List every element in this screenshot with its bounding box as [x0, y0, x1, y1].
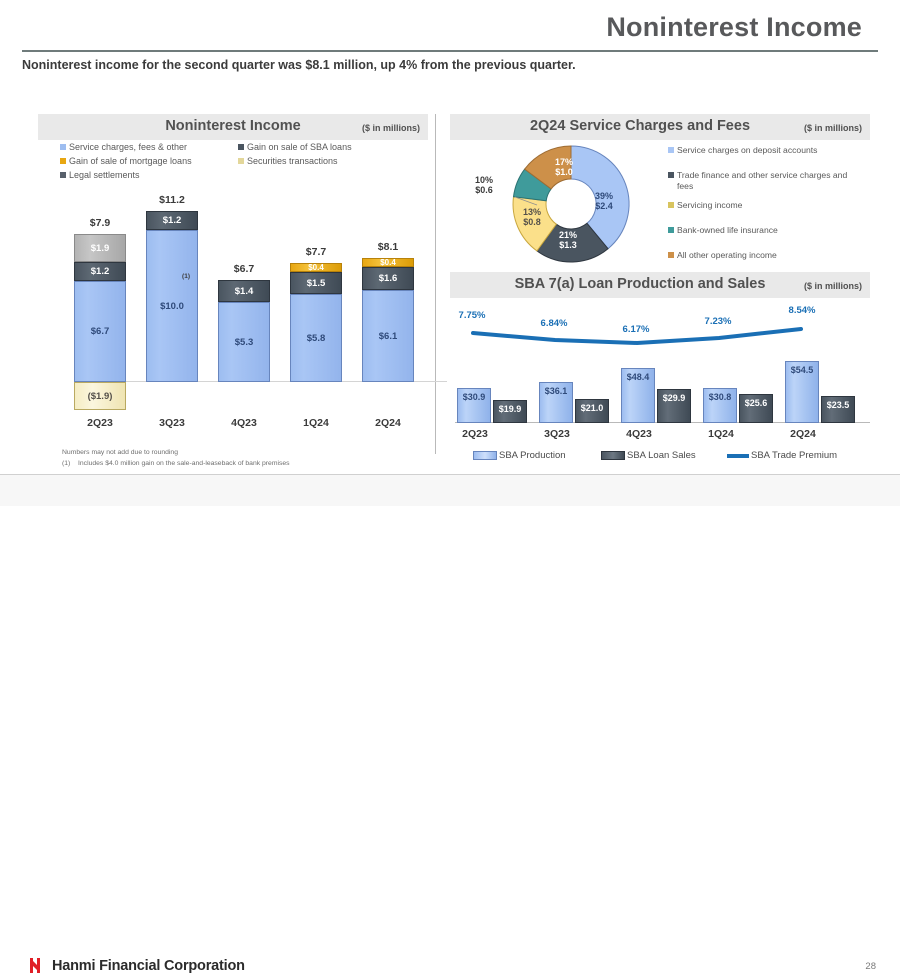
sba-sales-bar-2q24[interactable]: $23.5	[821, 396, 855, 423]
legend-label: Servicing income	[677, 200, 742, 211]
bar-group-2q23-negative[interactable]: ($1.9)	[74, 382, 126, 415]
legend-swatch-icon	[60, 144, 66, 150]
legend-item-securities: Securities transactions	[238, 156, 338, 166]
footnote-number: (1)	[62, 459, 78, 470]
bar-total-label: $11.2	[146, 194, 198, 206]
pie-legend-item-deposit-accounts: Service charges on deposit accounts	[668, 145, 817, 156]
bar-segment-securities-transactions[interactable]: ($1.9)	[74, 382, 126, 410]
bar-group-4q23[interactable]: $6.7 $1.4 $5.3	[218, 280, 270, 382]
sba-panel-units: ($ in millions)	[804, 281, 862, 291]
sba-legend-item-production: SBA Production	[473, 450, 566, 461]
page-number: 28	[865, 961, 876, 972]
legend-label: Gain on sale of SBA loans	[247, 142, 352, 152]
footer: Hanmi Financial Corporation 28	[0, 475, 900, 506]
bar-segment-sba-gain[interactable]: $1.4	[218, 280, 270, 302]
service-charges-panel-title: 2Q24 Service Charges and Fees	[410, 118, 870, 134]
sba-x-label-4q23: 4Q23	[601, 428, 677, 440]
footnote-marker: (1)	[182, 273, 190, 280]
bar-segment-sba-gain[interactable]: $1.2	[146, 211, 198, 230]
bar-total-label: $7.7	[290, 246, 342, 258]
noninterest-income-chart: $7.9 $1.9 $1.2 $6.7 ($1.9) $11.2 $1.2 $1…	[50, 195, 430, 415]
legend-label: SBA Loan Sales	[627, 450, 696, 461]
donut-val: $2.4	[583, 201, 625, 211]
legend-swatch-icon	[473, 451, 497, 460]
legend-swatch-icon	[60, 172, 66, 178]
legend-swatch-icon	[238, 144, 244, 150]
donut-pct: 13%	[511, 207, 553, 217]
bar-total-label: $8.1	[362, 241, 414, 253]
legend-swatch-icon	[668, 202, 674, 208]
sba-sales-bar-3q23[interactable]: $21.0	[575, 399, 609, 423]
donut-pct: 17%	[543, 157, 585, 167]
pie-legend-item-all-other: All other operating income	[668, 250, 777, 261]
x-axis-label-3q23: 3Q23	[136, 417, 208, 429]
sba-x-label-2q23: 2Q23	[437, 428, 513, 440]
footnote-rounding: Numbers may not add due to rounding	[62, 448, 290, 459]
legend-item-mortgage-gain: Gain of sale of mortgage loans	[60, 156, 192, 166]
legend-label: Legal settlements	[69, 170, 140, 180]
bar-group-2q23[interactable]: $7.9 $1.9 $1.2 $6.7	[74, 234, 126, 382]
bar-segment-value: $10.0	[160, 301, 184, 312]
bar-segment-service-charges[interactable]: $6.7	[74, 281, 126, 382]
donut-pct: 10%	[463, 175, 505, 185]
title-divider	[22, 50, 878, 52]
sba-legend-item-loan-sales: SBA Loan Sales	[601, 450, 696, 461]
footnote-text: Includes $4.0 million gain on the sale-a…	[78, 460, 290, 467]
sba-sales-bar-4q23[interactable]: $29.9	[657, 389, 691, 423]
bar-segment-service-charges[interactable]: $10.0 (1)	[146, 230, 198, 382]
sba-x-label-1q24: 1Q24	[683, 428, 759, 440]
pie-legend-item-trade-finance: Trade finance and other service charges …	[668, 170, 855, 191]
legend-line-icon	[727, 454, 749, 458]
sba-sales-bar-2q23[interactable]: $19.9	[493, 400, 527, 423]
donut-val: $0.8	[511, 217, 553, 227]
x-axis-label-2q23: 2Q23	[64, 417, 136, 429]
legend-label: Gain of sale of mortgage loans	[69, 156, 192, 166]
service-charges-donut-chart: 39% $2.4 21% $1.3 13% $0.8 10% $0.6 17% …	[495, 143, 647, 265]
bar-segment-mortgage-gain[interactable]: $0.4	[290, 263, 342, 272]
pie-legend-item-boli: Bank-owned life insurance	[668, 225, 778, 236]
sba-panel-title: SBA 7(a) Loan Production and Sales	[410, 276, 870, 292]
legend-swatch-icon	[668, 227, 674, 233]
donut-val: $1.0	[543, 167, 585, 177]
hanmi-logo-icon	[28, 957, 46, 974]
premium-label-2q24: 8.54%	[777, 305, 827, 316]
sba-panel-header: SBA 7(a) Loan Production and Sales ($ in…	[450, 272, 870, 298]
legend-item-service-charges: Service charges, fees & other	[60, 142, 187, 152]
legend-label: Securities transactions	[247, 156, 338, 166]
legend-swatch-icon	[601, 451, 625, 460]
sba-production-bar-4q23[interactable]: $48.4	[621, 368, 655, 423]
service-charges-panel-header: 2Q24 Service Charges and Fees ($ in mill…	[450, 114, 870, 140]
sba-x-label-3q23: 3Q23	[519, 428, 595, 440]
company-name: Hanmi Financial Corporation	[52, 958, 245, 974]
legend-label: Trade finance and other service charges …	[677, 170, 855, 191]
legend-item-sba-gain: Gain on sale of SBA loans	[238, 142, 352, 152]
legend-label: SBA Production	[499, 450, 566, 461]
page-title: Noninterest Income	[606, 12, 862, 43]
bar-segment-sba-gain[interactable]: $1.5	[290, 272, 342, 294]
bar-segment-legal-settlements[interactable]: $1.9	[74, 234, 126, 262]
sba-legend: SBA Production SBA Loan Sales SBA Trade …	[455, 450, 870, 464]
legend-swatch-icon	[238, 158, 244, 164]
bar-segment-sba-gain[interactable]: $1.6	[362, 267, 414, 290]
premium-label-4q23: 6.17%	[611, 324, 661, 335]
sba-production-bar-2q24[interactable]: $54.5	[785, 361, 819, 423]
x-axis-label-2q24: 2Q24	[352, 417, 424, 429]
donut-label-10: 10% $0.6	[463, 175, 505, 196]
footnotes: Numbers may not add due to rounding (1)I…	[62, 448, 290, 469]
service-charges-panel-units: ($ in millions)	[804, 123, 862, 133]
donut-label-21: 21% $1.3	[547, 230, 589, 251]
bar-total-label: $6.7	[218, 263, 270, 275]
donut-label-13: 13% $0.8	[511, 207, 553, 228]
noninterest-panel-header: Noninterest Income ($ in millions)	[38, 114, 428, 140]
legend-swatch-icon	[668, 252, 674, 258]
bar-group-1q24[interactable]: $7.7 $0.4 $1.5 $5.8	[290, 263, 342, 382]
legend-swatch-icon	[668, 172, 674, 178]
slide: Noninterest Income Noninterest income fo…	[0, 0, 900, 506]
premium-label-2q23: 7.75%	[447, 310, 497, 321]
bar-group-2q24[interactable]: $8.1 $0.4 $1.6 $6.1	[362, 258, 414, 382]
donut-pct: 39%	[583, 191, 625, 201]
bar-total-label: $7.9	[74, 217, 126, 229]
legend-label: SBA Trade Premium	[751, 450, 837, 461]
legend-label: Service charges on deposit accounts	[677, 145, 817, 156]
bar-segment-sba-gain[interactable]: $1.2	[74, 262, 126, 281]
premium-label-3q23: 6.84%	[529, 318, 579, 329]
sba-production-bar-2q23[interactable]: $30.9	[457, 388, 491, 423]
sba-production-bar-3q23[interactable]: $36.1	[539, 382, 573, 423]
legend-swatch-icon	[60, 158, 66, 164]
donut-val: $1.3	[547, 240, 589, 250]
legend-swatch-icon	[668, 147, 674, 153]
pie-legend-item-servicing-income: Servicing income	[668, 200, 742, 211]
donut-pct: 21%	[547, 230, 589, 240]
x-axis-label-4q23: 4Q23	[208, 417, 280, 429]
bar-segment-service-charges[interactable]: $6.1	[362, 290, 414, 382]
sba-production-bar-1q24[interactable]: $30.8	[703, 388, 737, 423]
footnote-1: (1)Includes $4.0 million gain on the sal…	[62, 459, 290, 470]
sba-sales-bar-1q24[interactable]: $25.6	[739, 394, 773, 423]
donut-label-39: 39% $2.4	[583, 191, 625, 212]
bar-segment-mortgage-gain[interactable]: $0.4	[362, 258, 414, 267]
donut-val: $0.6	[463, 185, 505, 195]
legend-item-legal-settlements: Legal settlements	[60, 170, 140, 180]
bar-segment-service-charges[interactable]: $5.3	[218, 302, 270, 382]
legend-label: All other operating income	[677, 250, 777, 261]
donut-label-17: 17% $1.0	[543, 157, 585, 178]
sba-legend-item-trade-premium: SBA Trade Premium	[727, 450, 837, 461]
premium-label-1q24: 7.23%	[693, 316, 743, 327]
legend-label: Bank-owned life insurance	[677, 225, 778, 236]
sba-loan-production-chart: 7.75% 6.84% 6.17% 7.23% 8.54% $30.9 $19.…	[455, 300, 870, 445]
x-axis-label-1q24: 1Q24	[280, 417, 352, 429]
bar-group-3q23[interactable]: $11.2 $1.2 $10.0 (1)	[146, 211, 198, 382]
sba-x-label-2q24: 2Q24	[765, 428, 841, 440]
slide-subtitle: Noninterest income for the second quarte…	[22, 58, 576, 72]
legend-label: Service charges, fees & other	[69, 142, 187, 152]
bar-segment-service-charges[interactable]: $5.8	[290, 294, 342, 382]
